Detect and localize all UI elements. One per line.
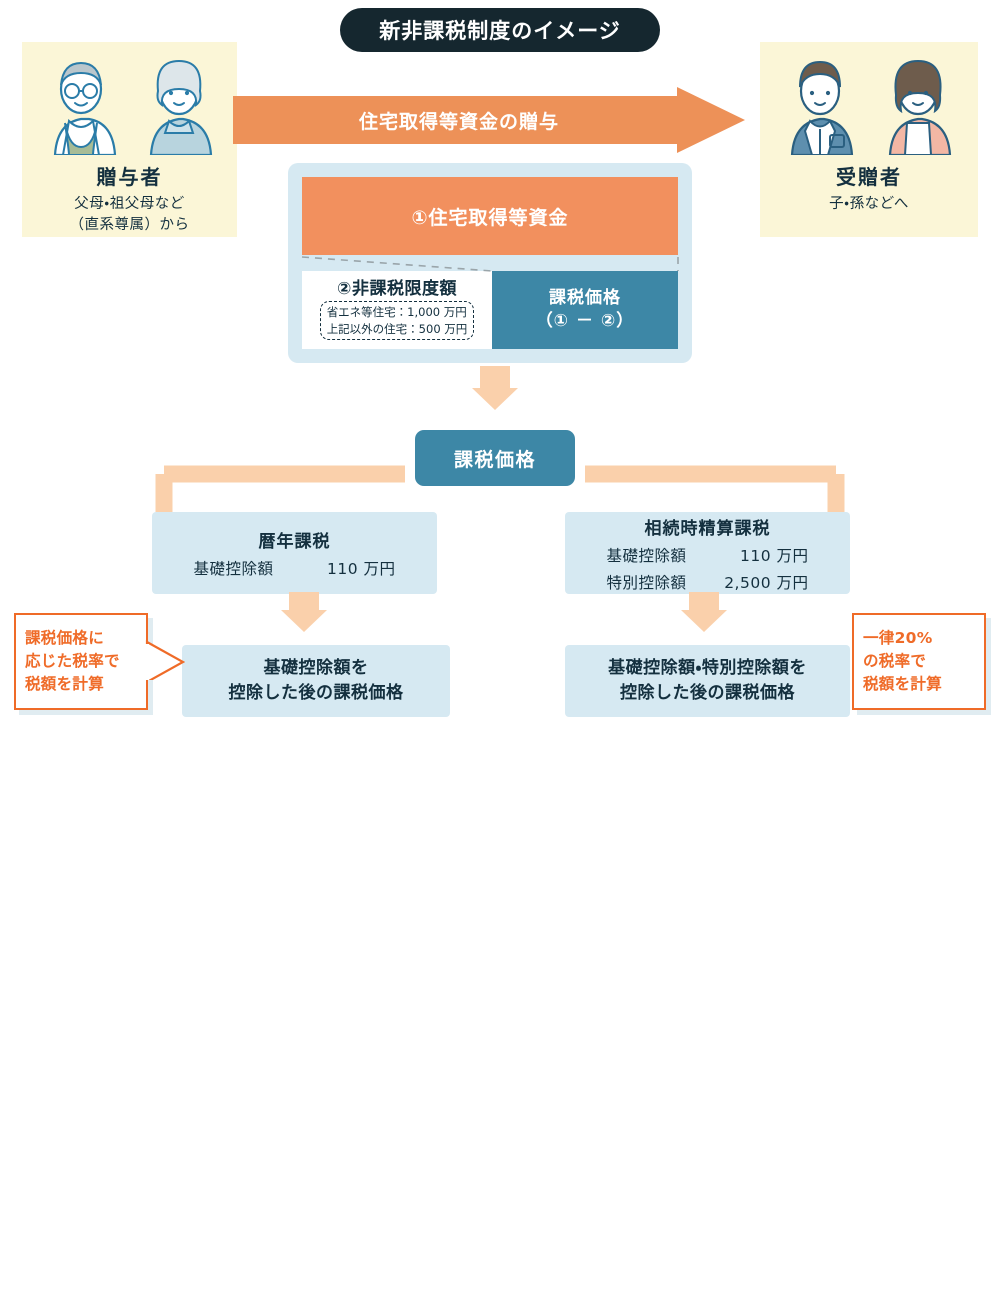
arrow-head — [472, 388, 518, 410]
callout-line1: 一律20% — [863, 627, 975, 650]
arrow-stem — [289, 592, 319, 610]
exemption-note-line1: 省エネ等住宅：1,000 万円 — [327, 304, 468, 321]
branch-box-reki-nen: 暦年課税 基礎控除額 110 万円 — [152, 512, 437, 594]
taxable-amount-line1: 課税価格 — [549, 287, 621, 310]
callout-line2: の税率で — [863, 650, 975, 673]
donor-subtitle-line2: （直系尊属）から — [70, 215, 190, 236]
callout-reki-nen-tax-rate: 課税価格に 応じた税率で 税額を計算 — [14, 613, 148, 710]
branch-row-value: 110 万円 — [699, 544, 809, 566]
exemption-limit-note: 省エネ等住宅：1,000 万円 上記以外の住宅：500 万円 — [320, 301, 475, 340]
callout-line1: 課税価格に — [25, 627, 137, 650]
gift-arrow-head — [677, 87, 745, 153]
result-line2: 控除した後の課税価格 — [229, 681, 404, 707]
callout-left-tail-icon — [145, 640, 185, 680]
taxable-price-node-label: 課税価格 — [454, 445, 536, 472]
branch-box-souzoku-seisan: 相続時精算課税 基礎控除額 110 万円 特別控除額 2,500 万円 — [565, 512, 850, 594]
branch-row-value: 2,500 万円 — [699, 571, 809, 593]
branch-row-label: 特別控除額 — [607, 571, 699, 593]
recipient-subtitle-line1: 子・孫などへ — [829, 194, 909, 215]
branch-title-reki-nen: 暦年課税 — [259, 527, 331, 552]
page-title: 新非課税制度のイメージ — [340, 8, 660, 52]
result-box-souzoku-seisan: 基礎控除額・特別控除額を 控除した後の課税価格 — [565, 645, 850, 717]
result-text-souzoku-seisan: 基礎控除額・特別控除額を 控除した後の課税価格 — [608, 656, 807, 707]
donor-subtitle-line1: 父母・祖父母など — [70, 194, 190, 215]
callout-line3: 税額を計算 — [863, 673, 975, 696]
taxable-amount-cell: 課税価格 （① － ②） — [492, 271, 678, 349]
branch-title-souzoku-seisan: 相続時精算課税 — [645, 514, 771, 539]
result-text-reki-nen: 基礎控除額を 控除した後の課税価格 — [229, 656, 404, 707]
taxable-amount-line2: （① － ②） — [536, 310, 635, 333]
arrow-stem — [689, 592, 719, 610]
arrow-head — [281, 610, 327, 632]
donor-illustration — [35, 42, 225, 155]
housing-funds-bar: ①住宅取得等資金 — [302, 177, 678, 255]
young-man-icon — [774, 51, 866, 155]
callout-line3: 税額を計算 — [25, 673, 137, 696]
elderly-woman-icon — [133, 51, 225, 155]
gift-arrow-label: 住宅取得等資金の贈与 — [233, 96, 685, 144]
arrow-funds-to-taxprice — [472, 366, 518, 410]
arrow-souzoku-seisan-to-result — [681, 592, 727, 632]
arrow-stem — [480, 366, 510, 388]
recipient-panel: 受贈者 子・孫などへ — [760, 42, 978, 237]
page-title-text: 新非課税制度のイメージ — [379, 15, 621, 45]
result-line1: 基礎控除額・特別控除額を — [608, 656, 807, 682]
branch-row-label: 基礎控除額 — [607, 544, 699, 566]
arrow-reki-nen-to-result — [281, 592, 327, 632]
recipient-title: 受贈者 — [836, 161, 902, 190]
recipient-subtitle: 子・孫などへ — [829, 194, 909, 215]
recipient-illustration — [774, 42, 964, 155]
branch-row-souzoku-seisan-0: 基礎控除額 110 万円 — [607, 544, 809, 566]
branch-row-value: 110 万円 — [286, 557, 396, 579]
taxable-price-node: 課税価格 — [415, 430, 575, 486]
callout-line2: 応じた税率で — [25, 650, 137, 673]
callout-souzoku-seisan-tax-rate: 一律20% の税率で 税額を計算 const data = JSON.parse… — [852, 613, 986, 710]
young-woman-icon — [872, 51, 964, 155]
exemption-limit-title: ②非課税限度額 — [337, 274, 457, 299]
exemption-note-line2: 上記以外の住宅：500 万円 — [327, 321, 468, 338]
branch-row-reki-nen-0: 基礎控除額 110 万円 — [194, 557, 396, 579]
gift-flow-arrow: 住宅取得等資金の贈与 — [233, 96, 745, 144]
result-line1: 基礎控除額を — [229, 656, 404, 682]
donor-subtitle: 父母・祖父母など （直系尊属）から — [70, 194, 190, 236]
funds-bottom-row: ②非課税限度額 省エネ等住宅：1,000 万円 上記以外の住宅：500 万円 課… — [302, 271, 678, 349]
branch-row-souzoku-seisan-1: 特別控除額 2,500 万円 — [607, 571, 809, 593]
donor-panel: 贈与者 父母・祖父母など （直系尊属）から — [22, 42, 237, 237]
result-box-reki-nen: 基礎控除額を 控除した後の課税価格 — [182, 645, 450, 717]
result-line2: 控除した後の課税価格 — [608, 681, 807, 707]
funds-breakdown-box: ①住宅取得等資金 ②非課税限度額 省エネ等住宅：1,000 万円 上記以外の住宅… — [288, 163, 692, 363]
donor-title: 贈与者 — [97, 161, 163, 190]
arrow-head — [681, 610, 727, 632]
elderly-man-icon — [35, 51, 127, 155]
exemption-limit-cell: ②非課税限度額 省エネ等住宅：1,000 万円 上記以外の住宅：500 万円 — [302, 271, 492, 349]
branch-row-label: 基礎控除額 — [194, 557, 286, 579]
